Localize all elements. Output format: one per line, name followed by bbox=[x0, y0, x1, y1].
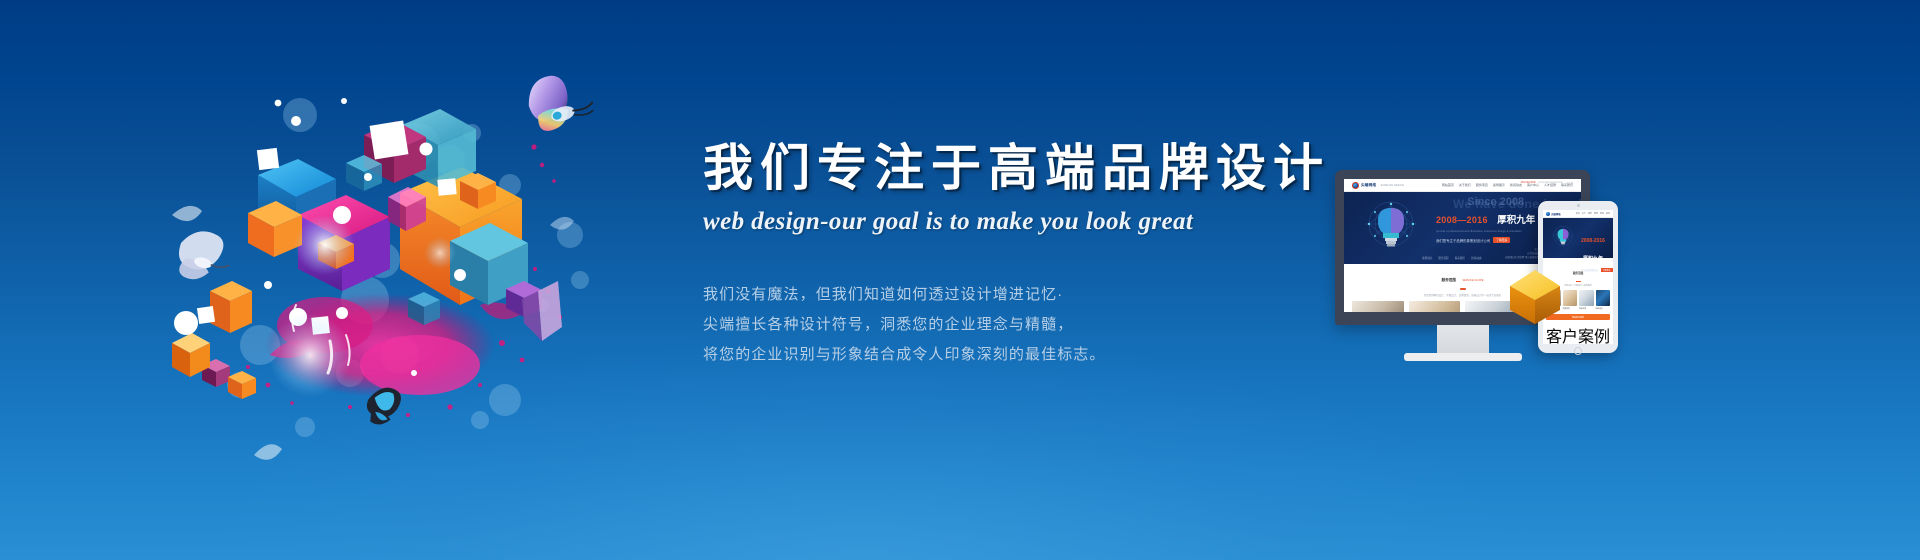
mobile-hero-subline-text: 专注品牌形象设计 bbox=[1581, 268, 1599, 272]
home-button-icon[interactable] bbox=[1574, 347, 1582, 355]
section-title: 服务范围 bbox=[1442, 278, 1456, 282]
mobile-thumbnail-image bbox=[1596, 290, 1611, 306]
mobile-hero-years-cn: 厚积九年 bbox=[1583, 256, 1603, 262]
mobile-nav-item[interactable]: 服务 bbox=[1588, 212, 1592, 215]
description-line-2: 尖端擅长各种设计符号，洞悉您的企业理念与精髓， bbox=[703, 310, 1343, 340]
site-nav-item[interactable]: 关于我们 bbox=[1459, 183, 1471, 187]
hero-quicklink[interactable]: 案例展示 bbox=[1422, 256, 1432, 260]
site-email: service@example.com bbox=[1539, 181, 1563, 185]
lightbulb-network-graphic bbox=[1360, 200, 1422, 258]
mobile-nav-item[interactable]: 案例 bbox=[1594, 212, 1598, 215]
site-nav-item[interactable]: 网站首页 bbox=[1442, 183, 1454, 187]
device-mockup-group: 尖端网络 JIANDUAN DESIGN 网站首页 关于我们 服务项目 案例展示… bbox=[1320, 158, 1650, 398]
logo-globe-icon bbox=[1546, 212, 1550, 216]
mobile-hero: 2008-2016 厚积九年 专注品牌形象设计 了解更多 bbox=[1543, 218, 1613, 258]
hero-quicklinks[interactable]: 案例展示 服务流程 联系我们 新闻动态 bbox=[1422, 256, 1482, 260]
site-nav-item[interactable]: 服务项目 bbox=[1476, 183, 1488, 187]
mobile-cta-label: 查看更多案例 bbox=[1572, 316, 1584, 319]
logo-globe-icon bbox=[1352, 182, 1359, 189]
hero-quicklink[interactable]: 联系我们 bbox=[1455, 256, 1465, 260]
site-header: 尖端网络 JIANDUAN DESIGN 网站首页 关于我们 服务项目 案例展示… bbox=[1344, 179, 1581, 192]
mobile-thumbnail-card[interactable]: 移动应用 bbox=[1579, 290, 1594, 310]
hero-quicklink[interactable]: 新闻动态 bbox=[1471, 256, 1481, 260]
mobile-nav-item[interactable]: 首页 bbox=[1576, 212, 1580, 215]
hero-years: 2008—2016 bbox=[1436, 215, 1488, 225]
mobile-nav[interactable]: 首页 关于 服务 案例 新闻 联系 bbox=[1576, 212, 1610, 215]
thumbnail-card[interactable] bbox=[1409, 301, 1461, 312]
hero-subline-text: 我们是专注于品牌形象策划设计公司 bbox=[1436, 238, 1490, 243]
hero-subline: 我们是专注于品牌形象策划设计公司 了解更多 bbox=[1436, 237, 1544, 243]
monitor-stand-neck bbox=[1437, 325, 1489, 353]
mobile-thumbnail-image bbox=[1579, 290, 1594, 306]
description-line-1: 我们没有魔法，但我们知道如何透过设计增进记忆· bbox=[703, 280, 1343, 310]
hero-cta-button[interactable]: 了解更多 bbox=[1493, 237, 1510, 243]
section-title-en: SERVICE SCOPE bbox=[1462, 279, 1483, 282]
mobile-thumbnail-caption: 品牌策划 bbox=[1563, 307, 1578, 310]
page-title: 我们专注于高端品牌设计 bbox=[703, 140, 1343, 196]
mobile-section2-title: 客户案例 bbox=[1546, 329, 1610, 344]
hero-copy: 2008—2016 厚积九年 provide a professional we… bbox=[1436, 210, 1544, 260]
abstract-artwork bbox=[150, 55, 620, 475]
site-nav-item[interactable]: 案例展示 bbox=[1493, 183, 1505, 187]
mobile-thumbnail-caption: 移动应用 bbox=[1579, 307, 1594, 310]
mobile-thumbnail-caption: 网站建设 bbox=[1596, 307, 1611, 310]
site-logo-text: 尖端网络 bbox=[1361, 183, 1376, 188]
butterfly-icon bbox=[173, 226, 236, 287]
site-phone: 400-000-0000 bbox=[1521, 181, 1536, 185]
mobile-nav-item[interactable]: 新闻 bbox=[1600, 212, 1604, 215]
monitor-stand-base bbox=[1404, 353, 1522, 361]
banner-copy: 我们专注于高端品牌设计 web design-our goal is to ma… bbox=[703, 140, 1343, 370]
gold-cube-decoration bbox=[1506, 266, 1564, 328]
site-logo-subtext: JIANDUAN DESIGN bbox=[1380, 184, 1404, 187]
mobile-site-header: 尖端网络 首页 关于 服务 案例 新闻 联系 bbox=[1543, 210, 1613, 218]
thumbnail-card[interactable] bbox=[1352, 301, 1404, 312]
description-line-3: 将您的企业识别与形象结合成令人印象深刻的最佳标志。 bbox=[703, 340, 1343, 370]
butterfly-icon bbox=[522, 65, 597, 134]
mobile-section-title: 服务范围 bbox=[1573, 272, 1583, 275]
mobile-hero-copy: 2008-2016 厚积九年 专注品牌形象设计 了解更多 bbox=[1581, 229, 1613, 272]
mobile-hero-subline: 专注品牌形象设计 了解更多 bbox=[1581, 268, 1613, 272]
mobile-nav-item[interactable]: 联系 bbox=[1606, 212, 1610, 215]
hero-years-cn: 厚积九年 bbox=[1497, 212, 1535, 226]
page-subtitle: web design-our goal is to make you look … bbox=[703, 208, 1343, 236]
site-language-switch[interactable]: 中文版 bbox=[1566, 181, 1573, 185]
mobile-thumbnail-card[interactable]: 品牌策划 bbox=[1563, 290, 1578, 310]
hero-quicklink[interactable]: 服务流程 bbox=[1438, 256, 1448, 260]
mobile-thumbnail-card[interactable]: 网站建设 bbox=[1596, 290, 1611, 310]
hero-en-tagline: provide a professional web illustration … bbox=[1436, 230, 1544, 233]
mobile-hero-cta-button[interactable]: 了解更多 bbox=[1601, 268, 1613, 272]
mobile-nav-item[interactable]: 关于 bbox=[1582, 212, 1586, 215]
site-utility-bar: 400-000-0000 service@example.com 中文版 bbox=[1521, 181, 1573, 185]
mobile-thumbnail-image bbox=[1563, 290, 1578, 306]
hero-watermark: Since 2008 bbox=[1467, 196, 1524, 208]
mobile-hero-years: 2008-2016 bbox=[1581, 238, 1605, 244]
section-divider bbox=[1460, 288, 1466, 290]
lightbulb-network-graphic bbox=[1549, 224, 1577, 252]
hero-banner: 我们专注于高端品牌设计 web design-our goal is to ma… bbox=[0, 0, 1920, 560]
mobile-logo-text: 尖端网络 bbox=[1551, 212, 1561, 216]
mobile-section-divider bbox=[1576, 281, 1581, 283]
front-camera-icon bbox=[1577, 204, 1580, 207]
description-paragraph: 我们没有魔法，但我们知道如何透过设计增进记忆· 尖端擅长各种设计符号，洞悉您的企… bbox=[703, 280, 1343, 370]
site-logo: 尖端网络 JIANDUAN DESIGN bbox=[1352, 182, 1404, 189]
